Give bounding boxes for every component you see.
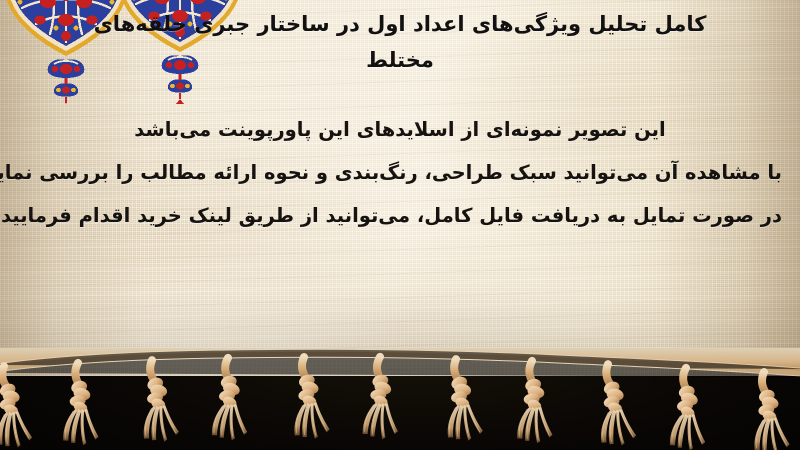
slide-body: این تصویر نمونه‌ای از اسلایدهای این پاور… [18,108,782,237]
slide-title: کامل تحلیل ویژگی‌های اعداد اول در ساختار… [40,6,760,78]
slide-body-line-2: با مشاهده آن می‌توانید سبک طراحی، رنگ‌بن… [18,151,782,194]
slide-title-line-2: مختلط [40,42,760,78]
slide-body-line-1: این تصویر نمونه‌ای از اسلایدهای این پاور… [18,108,782,151]
presentation-slide: کامل تحلیل ویژگی‌های اعداد اول در ساختار… [0,0,800,450]
slide-body-line-3: در صورت تمایل به دریافت فایل کامل، می‌تو… [18,194,782,237]
slide-title-line-1: کامل تحلیل ویژگی‌های اعداد اول در ساختار… [40,6,760,42]
slide-text-layer: کامل تحلیل ویژگی‌های اعداد اول در ساختار… [0,0,800,450]
